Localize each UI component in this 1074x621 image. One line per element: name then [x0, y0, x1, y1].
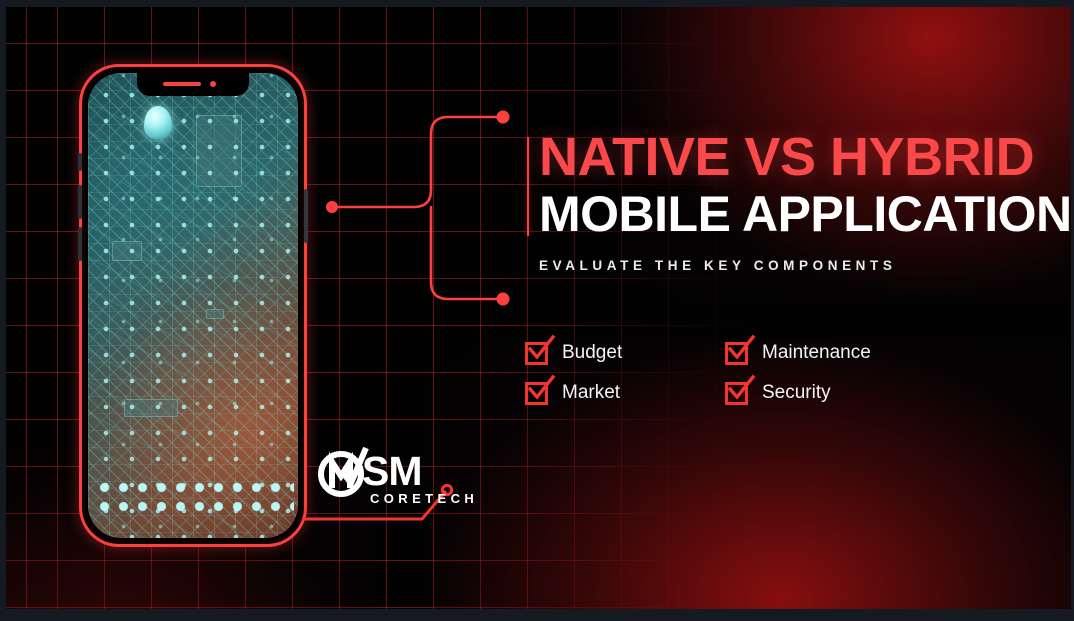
logo[interactable]: SM CORETECH: [318, 450, 478, 520]
phone-screen: [88, 73, 298, 538]
bottom-right-node: [497, 293, 510, 306]
msm-circle-m-check-icon: [321, 448, 366, 494]
volume-up-button[interactable]: [78, 185, 82, 219]
speaker-slot-icon: [163, 82, 201, 86]
subtitle: EVALUATE THE KEY COMPONENTS: [539, 258, 896, 273]
circuit-pad-row: [92, 478, 294, 516]
checklist-item-maintenance[interactable]: Maintenance: [725, 333, 925, 373]
poster-artwork: NATIVE VS HYBRID MOBILE APPLICATION EVAL…: [6, 7, 1071, 609]
circuit-trace-bracket: [306, 92, 546, 322]
phone-mockup: [79, 64, 307, 547]
mute-switch[interactable]: [78, 153, 82, 171]
checklist-item-security[interactable]: Security: [725, 373, 925, 413]
checklist-label: Security: [762, 382, 831, 404]
logo-wordmark: SM: [362, 451, 422, 492]
phone-notch: [137, 73, 249, 96]
title-accent-bar: [527, 137, 529, 236]
checklist: Budget Maintenance Market Security: [525, 333, 955, 413]
window-chrome-bottom: [0, 609, 1074, 621]
checklist-label: Market: [562, 382, 620, 404]
top-right-node: [497, 111, 510, 124]
circuit-solder-dots: [88, 73, 298, 538]
checkbox-checked-icon[interactable]: [525, 342, 548, 365]
volume-down-button[interactable]: [78, 227, 82, 261]
title-line-2: MOBILE APPLICATION: [539, 187, 1059, 241]
window-chrome-left: [0, 0, 6, 621]
front-camera-icon: [210, 81, 216, 87]
checklist-label: Budget: [562, 342, 622, 364]
checklist-label: Maintenance: [762, 342, 871, 364]
checkbox-checked-icon[interactable]: [725, 382, 748, 405]
checklist-item-market[interactable]: Market: [525, 373, 725, 413]
checklist-item-budget[interactable]: Budget: [525, 333, 725, 373]
logo-tagline: CORETECH: [370, 491, 478, 506]
left-node: [326, 201, 338, 213]
window-chrome-top: [0, 0, 1074, 7]
page-title: NATIVE VS HYBRID MOBILE APPLICATION: [539, 129, 1059, 241]
title-line-1: NATIVE VS HYBRID: [539, 129, 1059, 185]
checkbox-checked-icon[interactable]: [525, 382, 548, 405]
circuit-highlight-drop: [144, 106, 172, 139]
checkbox-checked-icon[interactable]: [725, 342, 748, 365]
poster-canvas: NATIVE VS HYBRID MOBILE APPLICATION EVAL…: [0, 0, 1074, 621]
